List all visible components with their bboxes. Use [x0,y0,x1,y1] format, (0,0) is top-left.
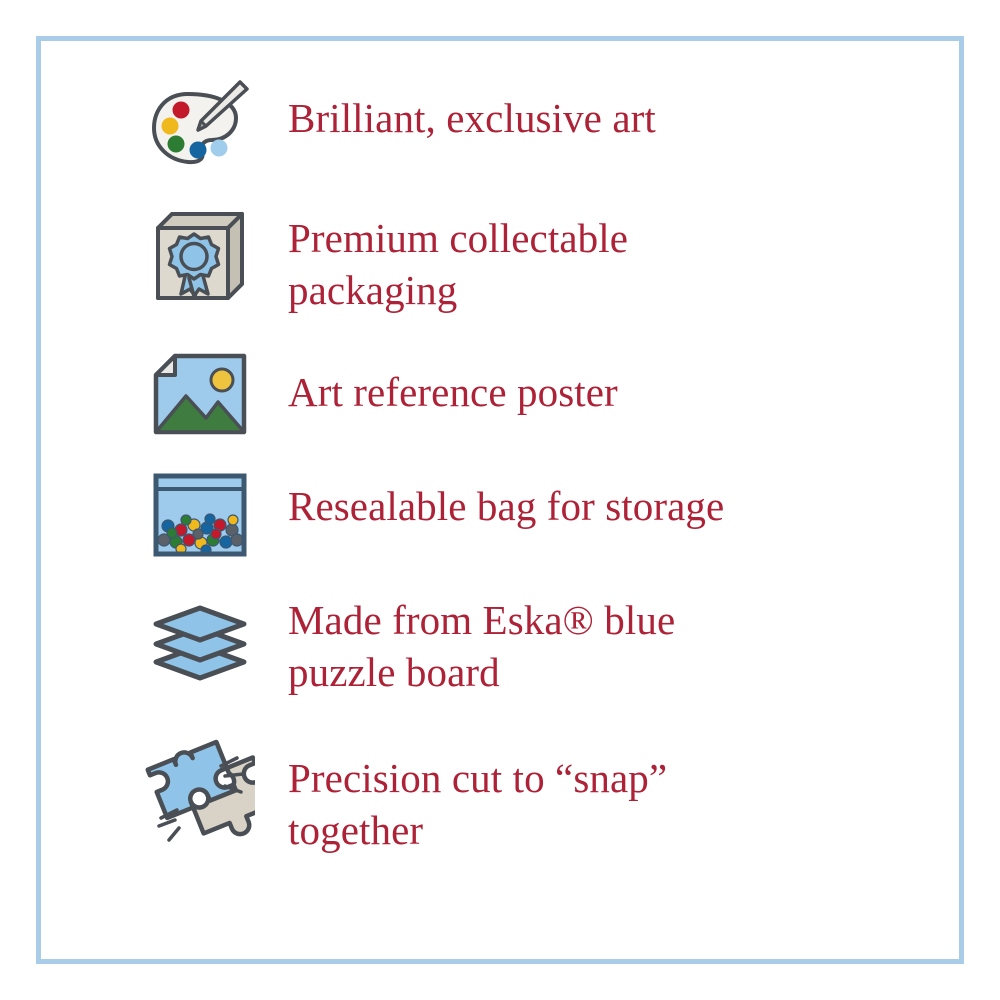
feature-label: Resealable bag for storage [260,468,724,532]
feature-label: Made from Eska® blue puzzle board [260,586,675,699]
poster-image-icon [140,348,260,438]
resealable-bag-icon [140,468,260,560]
feature-label: Premium collectable packaging [260,200,628,317]
premium-box-ribbon-icon [140,200,260,310]
feature-item: Brilliant, exclusive art [140,72,900,200]
feature-label: Brilliant, exclusive art [260,72,656,144]
feature-panel: Brilliant, exclusive art Premium collect… [0,0,1000,1000]
feature-item: Art reference poster [140,348,900,468]
paint-palette-icon [140,72,260,178]
feature-list: Brilliant, exclusive art Premium collect… [140,72,900,902]
feature-item: Made from Eska® blue puzzle board [140,586,900,734]
stacked-board-layers-icon [140,586,260,686]
feature-item: Resealable bag for storage [140,468,900,586]
feature-item: Premium collectable packaging [140,200,900,348]
feature-item: Precision cut to “snap” together [140,734,900,874]
feature-label: Art reference poster [260,348,618,418]
snapping-puzzle-pieces-icon [140,734,260,852]
feature-label: Precision cut to “snap” together [260,734,667,857]
